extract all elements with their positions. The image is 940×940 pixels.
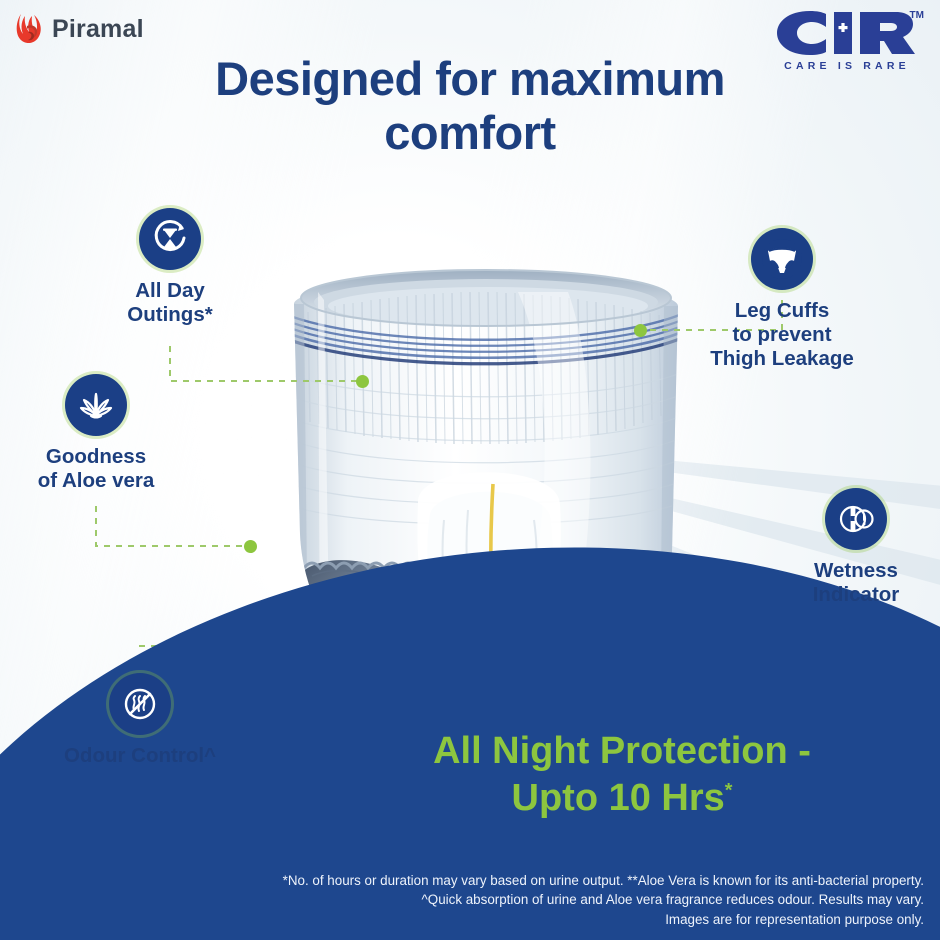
headline-line-2: comfort [0,106,940,160]
footnotes: *No. of hours or duration may vary based… [64,871,924,930]
cir-lettermark: TM [772,8,922,58]
banner-headline: All Night Protection - Upto 10 Hrs* [362,728,882,822]
feature-label-odour-control: Odour Control^ [48,744,232,768]
cir-trademark-symbol: TM [910,10,924,21]
feature-label-leg-cuffs: Leg Cuffs to prevent Thigh Leakage [690,299,874,372]
no-odour-waves-icon [109,673,171,735]
headline-line-1: Designed for maximum [0,52,940,106]
feature-odour-control: Odour Control^ [48,673,232,768]
feature-label-goodness-of-aloe-vera: Goodness of Aloe vera [4,445,188,493]
footnote-1: *No. of hours or duration may vary based… [64,871,924,891]
page-title: Designed for maximum comfort [0,52,940,159]
piramal-flame-icon [14,12,44,46]
banner-superscript: * [725,779,733,801]
feature-label-all-day-outings: All Day Outings* [78,279,262,327]
footnote-3: Images are for representation purpose on… [64,910,924,930]
leg-cuffs-icon [751,228,813,290]
infographic-poster: Piramal TM CARE IS RARE Designed for max… [0,0,940,940]
banner-line-1: All Night Protection - [362,728,882,775]
aloe-vera-plant-icon [65,374,127,436]
piramal-logo: Piramal [14,12,144,46]
footnote-2: ^Quick absorption of urine and Aloe vera… [64,890,924,910]
feature-goodness-of-aloe-vera: Goodness of Aloe vera [4,374,188,493]
feature-leg-cuffs: Leg Cuffs to prevent Thigh Leakage [690,228,874,372]
wetness-indicator-icon [825,488,887,550]
banner-line-2: Upto 10 Hrs* [362,775,882,822]
feature-label-wetness-indicator: Wetness Indicator [764,559,940,607]
feature-wetness-indicator: Wetness Indicator [764,488,940,607]
piramal-wordmark: Piramal [52,15,144,44]
hourglass-rotation-icon [139,208,201,270]
feature-all-day-outings: All Day Outings* [78,208,262,327]
